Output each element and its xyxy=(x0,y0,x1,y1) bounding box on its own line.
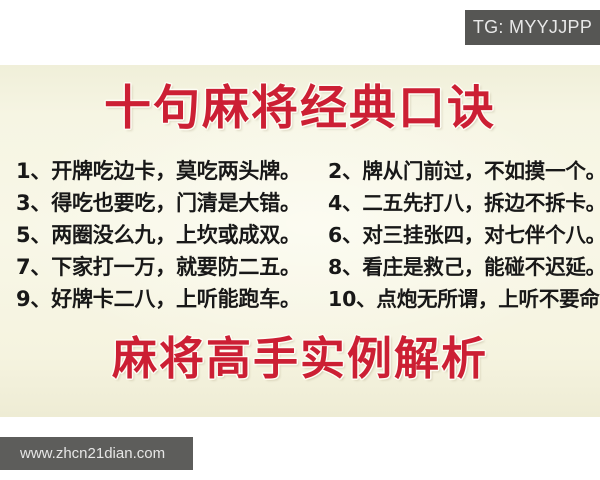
verse-list: 1、开牌吃边卡，莫吃两头牌。 3、得吃也要吃，门清是大错。 5、两圈没么九，上坎… xyxy=(0,155,600,325)
verse-column-left: 1、开牌吃边卡，莫吃两头牌。 3、得吃也要吃，门清是大错。 5、两圈没么九，上坎… xyxy=(0,155,314,325)
site-watermark: www.zhcn21dian.com xyxy=(0,437,193,470)
verse-column-right: 2、牌从门前过，不如摸一个。 4、二五先打八，拆边不拆卡。 6、对三挂张四，对七… xyxy=(314,155,600,325)
verse-item: 8、看庄是救己，能碰不迟延。 xyxy=(328,251,600,283)
verse-item: 4、二五先打八，拆边不拆卡。 xyxy=(328,187,600,219)
page-title: 十句麻将经典口诀 xyxy=(0,81,600,137)
verse-item: 5、两圈没么九，上坎或成双。 xyxy=(16,219,314,251)
tg-handle-badge: TG: MYYJJPP xyxy=(465,10,600,45)
page-subtitle: 麻将高手实例解析 xyxy=(0,332,600,386)
verse-item: 6、对三挂张四，对七伴个八。 xyxy=(328,219,600,251)
tg-handle-label: TG: MYYJJPP xyxy=(473,17,592,38)
poster-image: TG: MYYJJPP 十句麻将经典口诀 1、开牌吃边卡，莫吃两头牌。 3、得吃… xyxy=(0,0,600,480)
site-watermark-label: www.zhcn21dian.com xyxy=(0,445,165,462)
verse-item: 10、点炮无所谓，上听不要命。 xyxy=(328,283,600,315)
verse-item: 7、下家打一万，就要防二五。 xyxy=(16,251,314,283)
verse-item: 9、好牌卡二八，上听能跑车。 xyxy=(16,283,314,315)
verse-item: 2、牌从门前过，不如摸一个。 xyxy=(328,155,600,187)
verse-item: 3、得吃也要吃，门清是大错。 xyxy=(16,187,314,219)
verse-item: 1、开牌吃边卡，莫吃两头牌。 xyxy=(16,155,314,187)
